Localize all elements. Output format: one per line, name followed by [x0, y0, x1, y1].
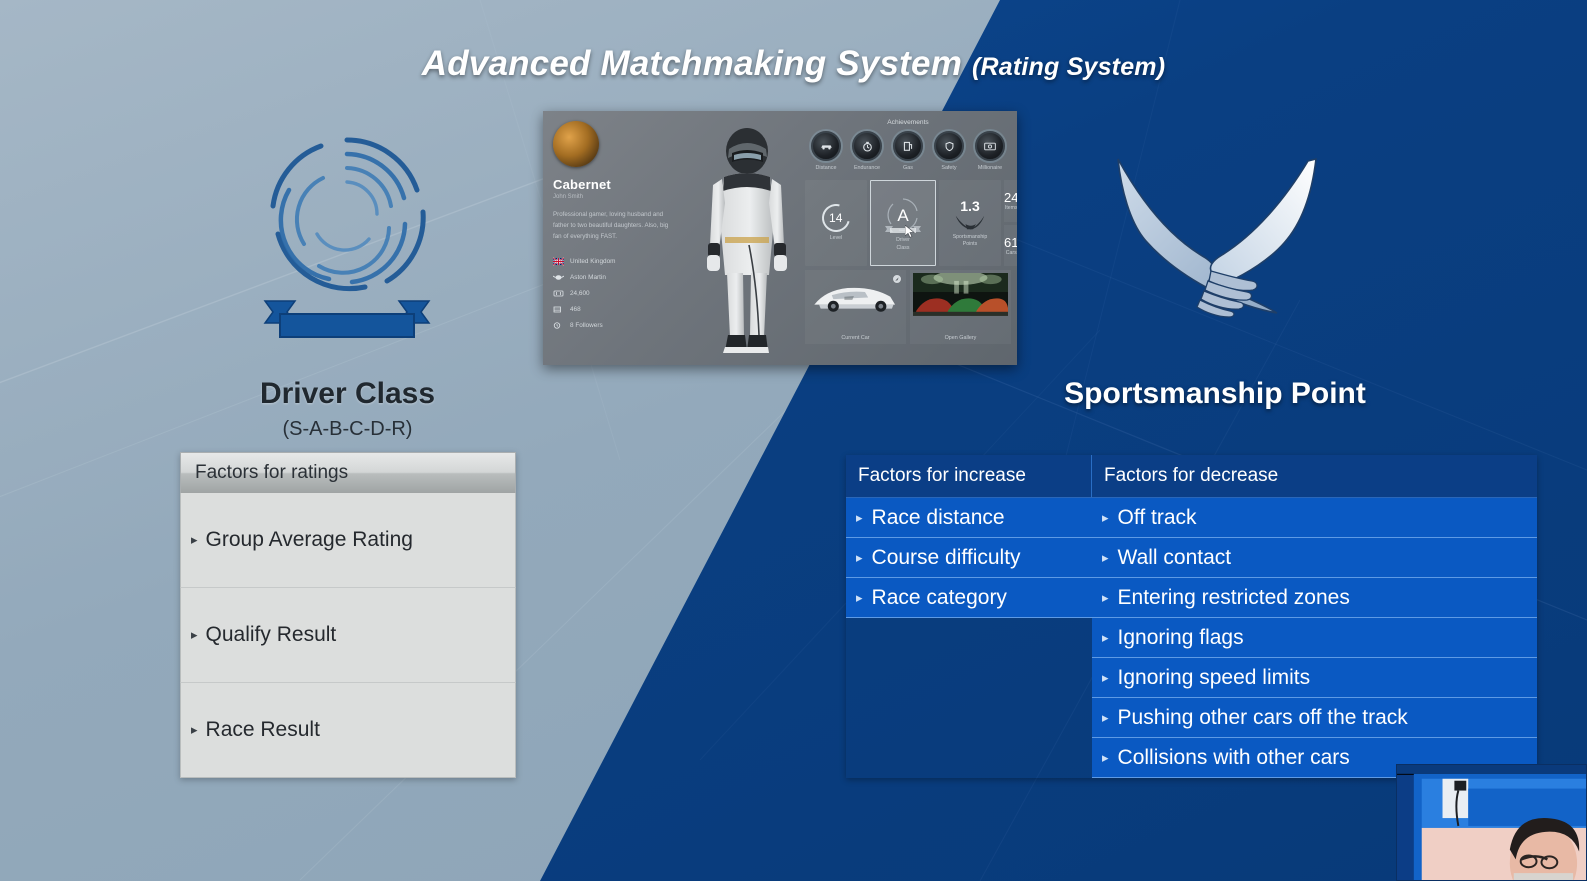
items-box[interactable]: 24 Items [1004, 180, 1017, 222]
presenter-webcam-overlay [1396, 764, 1587, 881]
sportsmanship-label: SportsmanshipPoints [953, 234, 988, 249]
counts-column: 24 Items 61 Cars [1004, 180, 1017, 266]
fuel-pump-icon [893, 131, 923, 161]
stat-label: 8 Followers [570, 322, 603, 329]
driver-class-rings-logo [247, 124, 447, 344]
factors-for-ratings-table: Factors for ratings ▸ Group Average Rati… [180, 452, 516, 778]
race-car-image [808, 273, 903, 316]
table-row[interactable]: ▸ Race distance [846, 498, 1092, 538]
left-table-cell: Race Result [206, 718, 320, 742]
decrease-cell: Wall contact [1118, 546, 1232, 570]
garage-gallery-image [913, 273, 1008, 316]
spacer-cell [846, 738, 1092, 778]
driver-class-heading: Driver Class [180, 377, 515, 411]
badge-label: Millionaire [972, 165, 1008, 171]
driver-class-label: DriverClass [896, 237, 910, 252]
table-row[interactable]: ▸ Race Result [180, 683, 516, 778]
badge-label: Gas [890, 165, 926, 171]
sportsmanship-tile[interactable]: 1.3 SportsmanshipPoints [939, 180, 1001, 266]
mileage-icon [553, 305, 564, 314]
shield-icon [934, 131, 964, 161]
photo-label: Current Car [841, 335, 869, 341]
left-table-header: Factors for ratings [180, 452, 516, 493]
items-value: 24 [1004, 190, 1017, 205]
followers-icon [553, 321, 564, 330]
sportsmanship-value: 1.3 [960, 198, 979, 214]
slide-title-main: Advanced Matchmaking System [422, 44, 962, 83]
bullet-triangle-icon: ▸ [1102, 750, 1109, 766]
bullet-triangle-icon: ▸ [191, 722, 198, 738]
avatar[interactable] [553, 121, 599, 167]
table-row[interactable]: ▸ Course difficulty [846, 538, 1092, 578]
list-item: 24,600 [553, 289, 681, 298]
table-row[interactable]: ▸ Race category [846, 578, 1092, 618]
bullet-triangle-icon: ▸ [1102, 550, 1109, 566]
spacer-cell [846, 618, 1092, 658]
driver-class-subheading: (S-A-B-C-D-R) [180, 418, 515, 441]
car-badge-icon [553, 273, 564, 282]
photo-tiles-row: Current Car [805, 270, 1011, 344]
bullet-triangle-icon: ▸ [1102, 510, 1109, 526]
stat-label: United Kingdom [570, 258, 615, 265]
bullet-triangle-icon: ▸ [1102, 590, 1109, 606]
increase-cell: Race category [872, 586, 1007, 610]
achievement-badges-row: Distance Endurance Gas [805, 131, 1011, 171]
decrease-cell: Pushing other cars off the track [1118, 706, 1408, 730]
decrease-cell: Ignoring flags [1118, 626, 1244, 650]
decrease-cell: Ignoring speed limits [1118, 666, 1311, 690]
spacer-cell [846, 658, 1092, 698]
flag-uk-icon [553, 257, 564, 266]
list-item: Aston Martin [553, 273, 681, 282]
table-row[interactable]: ▸ Group Average Rating [180, 493, 516, 588]
achievements-title: Achievements [805, 119, 1011, 126]
list-item: United Kingdom [553, 257, 681, 266]
achievements-panel: Achievements Distance Endurance [805, 119, 1011, 359]
table-row[interactable]: ▸ Ignoring speed limits [1092, 658, 1537, 698]
slide-title: Advanced Matchmaking System (Rating Syst… [0, 44, 1587, 84]
bullet-triangle-icon: ▸ [856, 550, 863, 566]
level-tile[interactable]: 14 Level [805, 180, 867, 266]
cars-value: 61 [1004, 235, 1017, 250]
decrease-cell: Entering restricted zones [1118, 586, 1350, 610]
list-item[interactable]: Endurance [849, 131, 885, 171]
increase-column-header: Factors for increase [846, 455, 1092, 498]
compass-icon [892, 274, 902, 284]
list-item[interactable]: Distance [808, 131, 844, 171]
left-table-cell: Group Average Rating [206, 528, 413, 552]
gallery-photo[interactable]: Open Gallery [910, 270, 1011, 344]
car-icon [811, 131, 841, 161]
game-profile-screenshot: Cabernet John Smith Professional gamer, … [543, 111, 1017, 365]
table-row[interactable]: ▸ Off track [1092, 498, 1537, 538]
list-item[interactable]: Millionaire [972, 131, 1008, 171]
money-icon [975, 131, 1005, 161]
badge-label: Safety [931, 165, 967, 171]
profile-real-name: John Smith [553, 194, 681, 200]
sportsmanship-factors-table: Factors for increase ▸ Race distance ▸ C… [846, 455, 1537, 778]
photo-label: Open Gallery [945, 335, 977, 341]
bullet-triangle-icon: ▸ [1102, 630, 1109, 646]
bullet-triangle-icon: ▸ [191, 532, 198, 548]
level-label: Level [830, 235, 842, 242]
credits-icon [553, 289, 564, 298]
slide-title-sub: (Rating System) [972, 53, 1165, 81]
table-row[interactable]: ▸ Ignoring flags [1092, 618, 1537, 658]
stopwatch-icon [852, 131, 882, 161]
bullet-triangle-icon: ▸ [856, 510, 863, 526]
decrease-cell: Off track [1118, 506, 1197, 530]
increase-cell: Race distance [872, 506, 1005, 530]
table-row[interactable]: ▸ Entering restricted zones [1092, 578, 1537, 618]
stat-label: Aston Martin [570, 274, 606, 281]
profile-name: Cabernet [553, 177, 681, 192]
list-item: 8 Followers [553, 321, 681, 330]
bullet-triangle-icon: ▸ [856, 590, 863, 606]
driver-class-tile[interactable]: A DriverClass [870, 180, 936, 266]
profile-bio: Professional gamer, loving husband and f… [553, 210, 678, 243]
stat-label: 468 [570, 306, 581, 313]
profile-stats-list: United Kingdom Aston Martin 24,600 [553, 257, 681, 330]
list-item: 468 [553, 305, 681, 314]
cursor-icon [905, 225, 915, 238]
level-value: 14 [829, 211, 842, 225]
badge-label: Endurance [849, 165, 885, 171]
stats-tiles-row: 14 Level A [805, 180, 1011, 266]
factors-for-decrease-column: Factors for decrease ▸ Off track ▸ Wall … [1092, 455, 1537, 778]
bullet-triangle-icon: ▸ [1102, 670, 1109, 686]
level-ring: 14 [817, 199, 855, 237]
decrease-cell: Collisions with other cars [1118, 746, 1350, 770]
table-row[interactable]: ▸ Pushing other cars off the track [1092, 698, 1537, 738]
current-car-photo[interactable]: Current Car [805, 270, 906, 344]
slide-stage: Advanced Matchmaking System (Rating Syst… [0, 0, 1587, 881]
left-table-cell: Qualify Result [206, 623, 337, 647]
handshake-mini-icon [955, 214, 985, 231]
badge-label: Distance [808, 165, 844, 171]
decrease-column-header: Factors for decrease [1092, 455, 1537, 498]
sportsmanship-heading: Sportsmanship Point [1020, 377, 1410, 411]
factors-for-increase-column: Factors for increase ▸ Race distance ▸ C… [846, 455, 1092, 778]
svg-text:A: A [897, 206, 909, 225]
items-label: Items [1005, 205, 1017, 211]
ribbon-banner [265, 301, 429, 337]
list-item[interactable]: Safety [931, 131, 967, 171]
increase-cell: Course difficulty [872, 546, 1021, 570]
stat-label: 24,600 [570, 290, 590, 297]
table-row[interactable]: ▸ Qualify Result [180, 588, 516, 683]
handshake-logo [1112, 145, 1322, 320]
bullet-triangle-icon: ▸ [1102, 710, 1109, 726]
profile-column: Cabernet John Smith Professional gamer, … [543, 111, 691, 365]
driver-avatar-render [689, 125, 805, 365]
driver-class-emblem-icon: A [881, 194, 925, 234]
spacer-cell [846, 698, 1092, 738]
list-item[interactable]: Gas [890, 131, 926, 171]
table-row[interactable]: ▸ Wall contact [1092, 538, 1537, 578]
bullet-triangle-icon: ▸ [191, 627, 198, 643]
cars-box[interactable]: 61 Cars [1004, 225, 1017, 267]
cars-label: Cars [1006, 250, 1017, 256]
